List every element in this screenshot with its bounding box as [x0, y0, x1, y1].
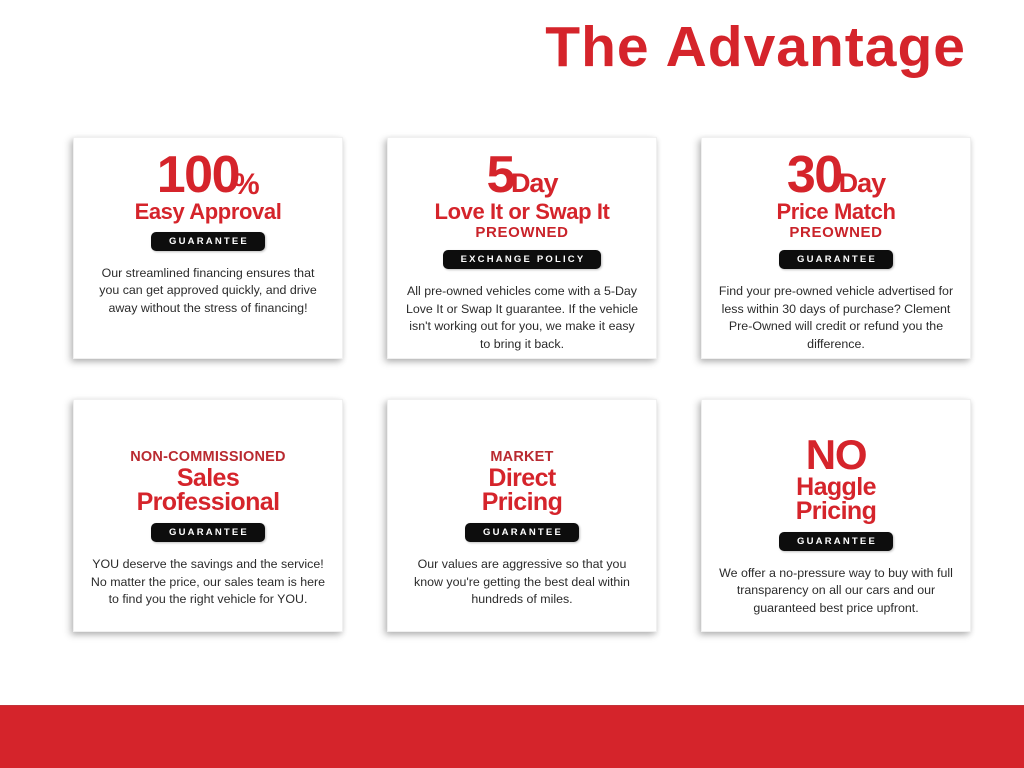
card-headline-easy-approval: 100 % Easy Approval GUARANTEE	[135, 152, 282, 251]
headline-preowned-label: PREOWNED	[789, 224, 882, 241]
advantage-card-price-match[interactable]: 30 Day Price Match PREOWNED GUARANTEE Fi…	[701, 137, 971, 359]
exchange-policy-badge: EXCHANGE POLICY	[443, 250, 602, 269]
headline-secondary-line: Price Match	[776, 201, 895, 223]
card-headline-no-haggle-pricing: NO Haggle Pricing GUARANTEE	[779, 436, 893, 551]
card-body-text: YOU deserve the savings and the service!…	[86, 556, 330, 609]
advantage-card-no-haggle-pricing[interactable]: NO Haggle Pricing GUARANTEE We offer a n…	[701, 399, 971, 632]
footer-red-bar	[0, 705, 1024, 768]
guarantee-badge: GUARANTEE	[779, 250, 893, 269]
headline-stack-line-1: Sales	[177, 466, 239, 490]
headline-percent-symbol: %	[233, 171, 259, 200]
card-body-text: Our values are aggressive so that you kn…	[400, 556, 644, 609]
headline-secondary-line: Love It or Swap It	[435, 201, 610, 223]
card-headline-love-it-or-swap-it: 5 Day Love It or Swap It PREOWNED EXCHAN…	[435, 152, 610, 269]
headline-secondary-line: Easy Approval	[135, 201, 282, 223]
guarantee-badge: GUARANTEE	[151, 232, 265, 251]
headline-big-number: 5	[487, 152, 514, 200]
headline-row: 100 %	[157, 152, 259, 200]
advantage-card-non-commissioned-sales[interactable]: NON-COMMISSIONED Sales Professional GUAR…	[73, 399, 343, 632]
guarantee-badge: GUARANTEE	[151, 523, 265, 542]
headline-big-number: 30	[787, 152, 842, 200]
guarantee-badge: GUARANTEE	[779, 532, 893, 551]
card-body-text: Find your pre-owned vehicle advertised f…	[714, 283, 958, 353]
headline-stack-line-2: Pricing	[796, 499, 877, 523]
headline-stack-line-1: Haggle	[796, 475, 876, 499]
card-body-text: All pre-owned vehicles come with a 5-Day…	[400, 283, 644, 353]
card-headline-price-match: 30 Day Price Match PREOWNED GUARANTEE	[776, 152, 895, 269]
headline-big-number: 100	[157, 152, 239, 200]
headline-preowned-label: PREOWNED	[475, 224, 568, 241]
advantage-card-love-it-or-swap-it[interactable]: 5 Day Love It or Swap It PREOWNED EXCHAN…	[387, 137, 657, 359]
page-title-word-2: Advantage	[666, 15, 966, 79]
advantage-page: TheAdvantage 100 % Easy Approval GUARANT…	[0, 0, 1024, 768]
card-headline-market-direct-pricing: MARKET Direct Pricing GUARANTEE	[465, 450, 579, 542]
headline-row: 30 Day	[787, 152, 885, 200]
page-header: TheAdvantage	[0, 0, 1024, 100]
advantage-card-grid: 100 % Easy Approval GUARANTEE Our stream…	[73, 137, 971, 632]
advantage-card-market-direct-pricing[interactable]: MARKET Direct Pricing GUARANTEE Our valu…	[387, 399, 657, 632]
page-title: TheAdvantage	[545, 16, 966, 79]
card-body-text: We offer a no-pressure way to buy with f…	[714, 565, 958, 618]
headline-stack-line-1: Direct	[488, 466, 555, 490]
headline-row: 5 Day	[487, 152, 558, 200]
headline-stack-line-2: Professional	[137, 490, 280, 514]
headline-day-label: Day	[839, 171, 886, 197]
headline-day-label: Day	[511, 171, 558, 197]
page-title-word-1: The	[545, 15, 649, 79]
advantage-card-easy-approval[interactable]: 100 % Easy Approval GUARANTEE Our stream…	[73, 137, 343, 359]
card-headline-non-commissioned-sales: NON-COMMISSIONED Sales Professional GUAR…	[130, 450, 285, 542]
headline-no-label: NO	[806, 436, 867, 475]
guarantee-badge: GUARANTEE	[465, 523, 579, 542]
headline-stack-line-2: Pricing	[482, 490, 563, 514]
card-body-text: Our streamlined financing ensures that y…	[86, 265, 330, 318]
